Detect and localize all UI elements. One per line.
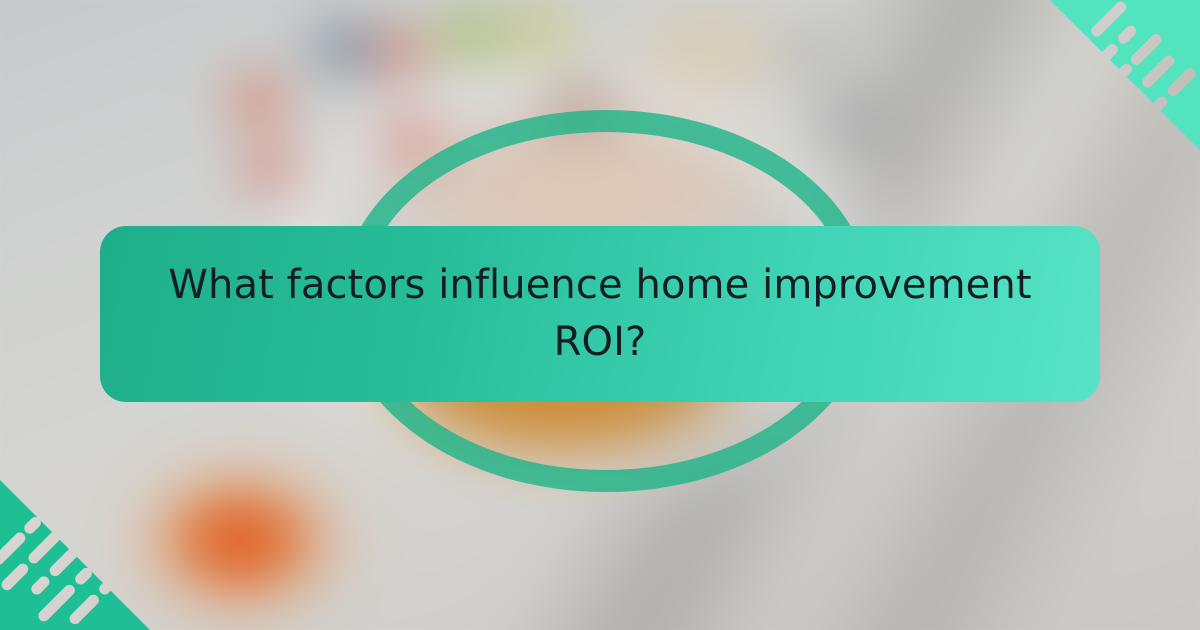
social-card: What factors influence home improvement … [0, 0, 1200, 630]
title-banner: What factors influence home improvement … [100, 226, 1100, 402]
page-title: What factors influence home improvement … [160, 257, 1040, 371]
